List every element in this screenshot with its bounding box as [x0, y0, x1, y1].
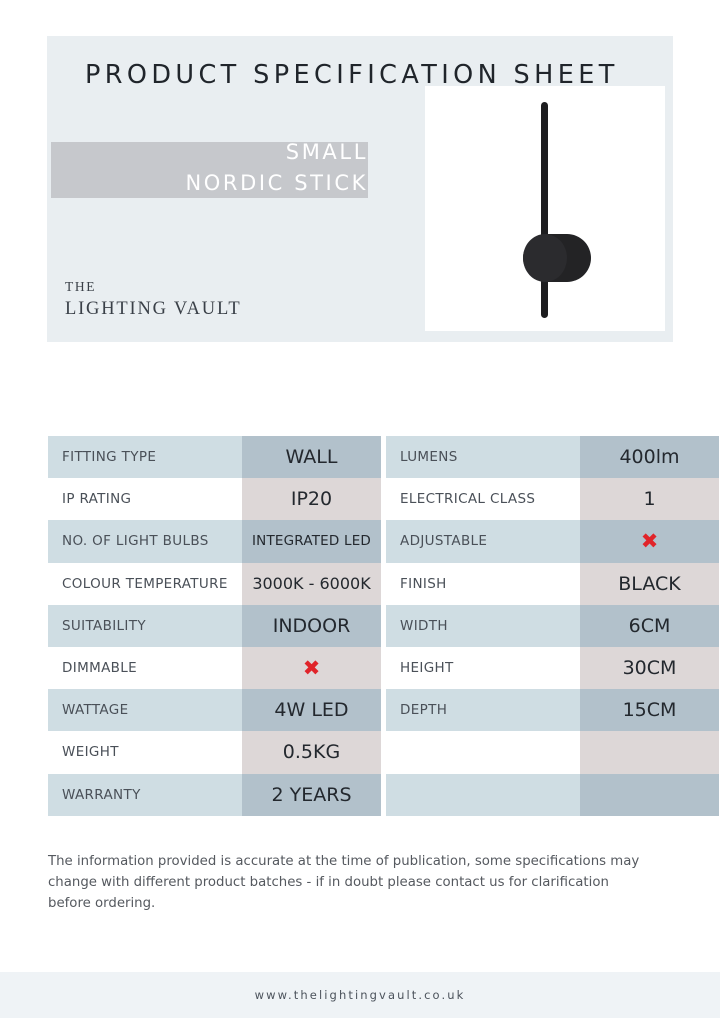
table-row: IP RATINGIP20 [48, 478, 381, 520]
table-row [386, 731, 719, 773]
spec-label-cell: ELECTRICAL CLASS [386, 478, 580, 520]
spec-value-cell [580, 774, 719, 816]
spec-value-cell: 15CM [580, 689, 719, 731]
spec-value-cell: 400lm [580, 436, 719, 478]
spec-value-cell: 4W LED [242, 689, 381, 731]
footer-website-url[interactable]: www.thelightingvault.co.uk [255, 988, 466, 1002]
spec-value-cell: ✖ [242, 647, 381, 689]
spec-value-cell: BLACK [580, 563, 719, 605]
spec-label-cell: SUITABILITY [48, 605, 242, 647]
spec-value-cell: 30CM [580, 647, 719, 689]
table-row: DEPTH15CM [386, 689, 719, 731]
spec-label-cell [386, 731, 580, 773]
spec-value-cell: 6CM [580, 605, 719, 647]
spec-label-cell: LUMENS [386, 436, 580, 478]
spec-value-cell: 2 YEARS [242, 774, 381, 816]
brand-line-lighting-vault: LIGHTING VAULT [65, 298, 241, 320]
table-row: NO. OF LIGHT BULBSINTEGRATED LED [48, 520, 381, 562]
spec-label-cell: FITTING TYPE [48, 436, 242, 478]
spec-label-cell: WARRANTY [48, 774, 242, 816]
spec-label-cell: DIMMABLE [48, 647, 242, 689]
table-row [386, 774, 719, 816]
footer-bar: www.thelightingvault.co.uk [0, 972, 720, 1018]
spec-value-cell: 0.5KG [242, 731, 381, 773]
spec-value-cell: INDOOR [242, 605, 381, 647]
spec-label-cell: FINISH [386, 563, 580, 605]
spec-value-cell: WALL [242, 436, 381, 478]
spec-value-cell: IP20 [242, 478, 381, 520]
brand-line-the: THE [65, 276, 241, 298]
lamp-rod-icon [541, 102, 548, 318]
header-panel: PRODUCT SPECIFICATION SHEET SMALL NORDIC… [47, 36, 673, 342]
cross-icon: ✖ [303, 658, 321, 679]
spec-label-cell: DEPTH [386, 689, 580, 731]
table-row: WARRANTY2 YEARS [48, 774, 381, 816]
spec-label-cell: NO. OF LIGHT BULBS [48, 520, 242, 562]
spec-value-cell [580, 731, 719, 773]
spec-label-cell: WEIGHT [48, 731, 242, 773]
specification-table: FITTING TYPEWALLIP RATINGIP20NO. OF LIGH… [48, 436, 674, 816]
product-name-text: SMALL NORDIC STICK [51, 137, 368, 203]
spec-label-cell: ADJUSTABLE [386, 520, 580, 562]
product-name-line-1: SMALL [51, 137, 368, 168]
spec-value-cell: 1 [580, 478, 719, 520]
spec-label-cell: HEIGHT [386, 647, 580, 689]
product-name-line-2: NORDIC STICK [51, 168, 368, 199]
spec-label-cell: WIDTH [386, 605, 580, 647]
lamp-mount-icon [523, 234, 567, 282]
spec-label-cell: WATTAGE [48, 689, 242, 731]
table-row: FITTING TYPEWALL [48, 436, 381, 478]
spec-column-right: LUMENS400lmELECTRICAL CLASS1ADJUSTABLE✖F… [386, 436, 719, 816]
table-row: FINISHBLACK [386, 563, 719, 605]
product-image-box [425, 86, 665, 331]
spec-value-cell: ✖ [580, 520, 719, 562]
cross-icon: ✖ [641, 531, 659, 552]
spec-label-cell: COLOUR TEMPERATURE [48, 563, 242, 605]
table-row: HEIGHT30CM [386, 647, 719, 689]
table-row: COLOUR TEMPERATURE3000K - 6000K [48, 563, 381, 605]
table-row: ADJUSTABLE✖ [386, 520, 719, 562]
spec-value-cell: 3000K - 6000K [242, 563, 381, 605]
spec-label-cell: IP RATING [48, 478, 242, 520]
table-row: WIDTH6CM [386, 605, 719, 647]
table-row: DIMMABLE✖ [48, 647, 381, 689]
spec-label-cell [386, 774, 580, 816]
spec-column-left: FITTING TYPEWALLIP RATINGIP20NO. OF LIGH… [48, 436, 381, 816]
table-row: ELECTRICAL CLASS1 [386, 478, 719, 520]
table-row: SUITABILITYINDOOR [48, 605, 381, 647]
spec-value-cell: INTEGRATED LED [242, 520, 381, 562]
brand-logo: THE LIGHTING VAULT [65, 276, 241, 320]
product-illustration [425, 86, 665, 331]
table-row: WATTAGE4W LED [48, 689, 381, 731]
table-row: LUMENS400lm [386, 436, 719, 478]
table-row: WEIGHT0.5KG [48, 731, 381, 773]
disclaimer-text: The information provided is accurate at … [48, 851, 648, 914]
